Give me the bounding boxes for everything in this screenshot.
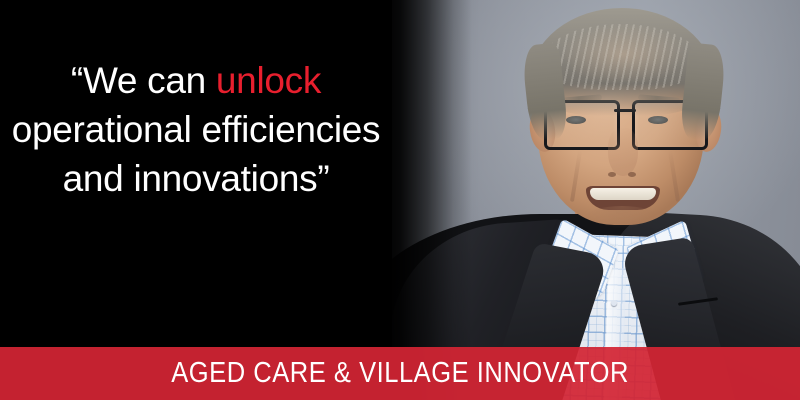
quote-text: “We can unlock operational efficiencies … bbox=[8, 56, 384, 204]
quote-open-mark: “ bbox=[71, 60, 83, 101]
quote-highlight-word: unlock bbox=[216, 60, 321, 101]
nose bbox=[608, 128, 638, 176]
role-banner-label: AGED CARE & VILLAGE INNOVATOR bbox=[171, 357, 629, 390]
quote-line-2: operational bbox=[12, 109, 192, 150]
teeth bbox=[590, 188, 656, 200]
nostril-right bbox=[628, 172, 636, 177]
quote-banner-card: “We can unlock operational efficiencies … bbox=[0, 0, 800, 400]
quote-close-mark: ” bbox=[317, 158, 329, 199]
nostril-left bbox=[608, 172, 616, 177]
chin-shadow bbox=[586, 206, 658, 228]
role-banner: AGED CARE & VILLAGE INNOVATOR bbox=[0, 347, 800, 400]
quote-line-1-prefix: We can bbox=[83, 60, 216, 101]
quote-line-4: innovations bbox=[133, 158, 317, 199]
shirt-button bbox=[611, 300, 617, 306]
panel-photo-gradient bbox=[380, 0, 472, 400]
